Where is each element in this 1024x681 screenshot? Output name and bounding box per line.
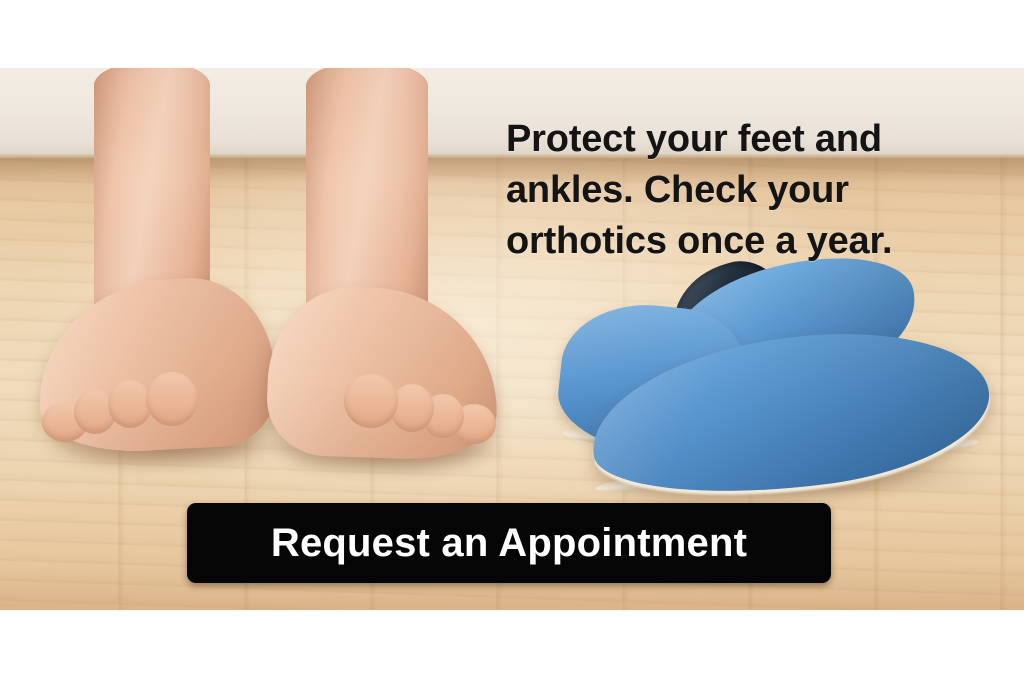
request-appointment-button[interactable]: Request an Appointment <box>187 503 831 583</box>
right-toe-4 <box>344 374 398 428</box>
left-toe-4 <box>146 372 198 426</box>
banner-photo: Protect your feet and ankles. Check your… <box>0 68 1024 610</box>
left-toe-3 <box>108 380 152 428</box>
bare-feet-icon <box>38 68 508 520</box>
orthotic-insoles-group <box>560 258 990 498</box>
banner-headline: Protect your feet and ankles. Check your… <box>506 114 952 267</box>
promo-banner: Protect your feet and ankles. Check your… <box>0 0 1024 681</box>
